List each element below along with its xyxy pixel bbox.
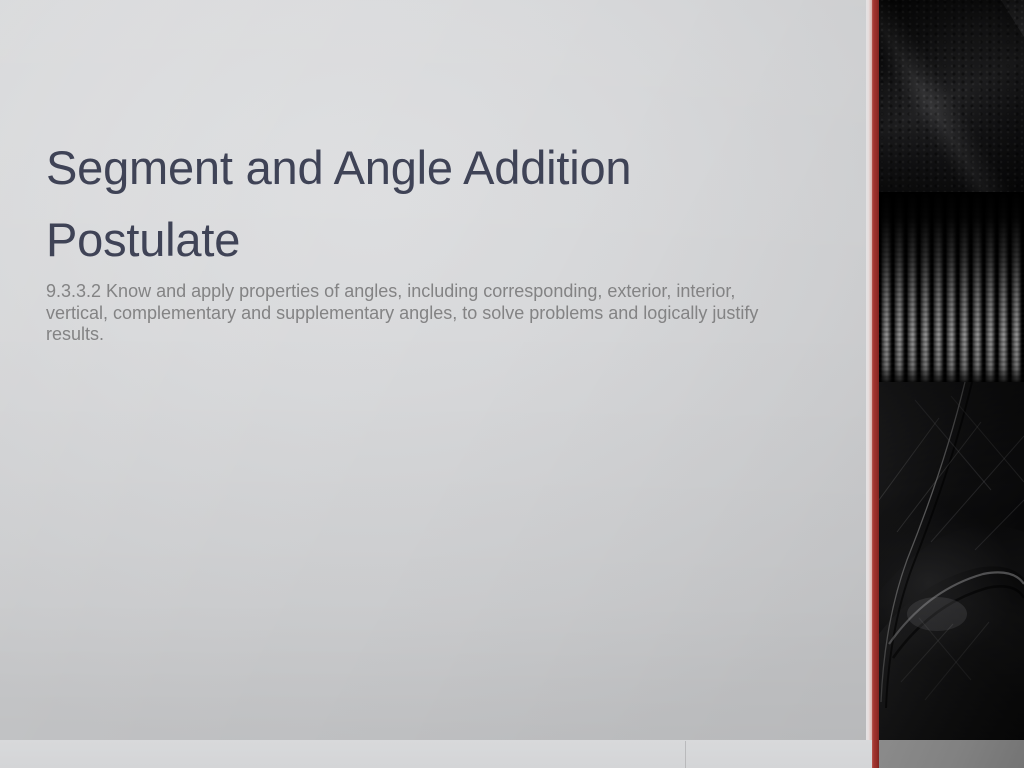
photo-panel-leather-texture (879, 0, 1024, 192)
title-text-block: Segment and Angle Addition Postulate 9.3… (46, 132, 806, 346)
decorative-photo-strip (879, 0, 1024, 740)
slide-title: Segment and Angle Addition Postulate (46, 132, 806, 276)
slat-vertical-fade (879, 192, 1024, 382)
leather-shading-overlay (879, 0, 1024, 192)
sofa-shading-overlay (879, 382, 1024, 740)
photo-panel-quilted-sofa (879, 382, 1024, 740)
slide-subtitle: 9.3.3.2 Know and apply properties of ang… (46, 276, 761, 346)
footer-divider (685, 741, 686, 768)
red-vertical-accent-bar (872, 0, 879, 768)
photo-panel-vertical-slats (879, 192, 1024, 382)
presentation-slide: Segment and Angle Addition Postulate 9.3… (0, 0, 1024, 768)
footer-right-block (879, 740, 1024, 768)
footer-band (0, 740, 872, 768)
